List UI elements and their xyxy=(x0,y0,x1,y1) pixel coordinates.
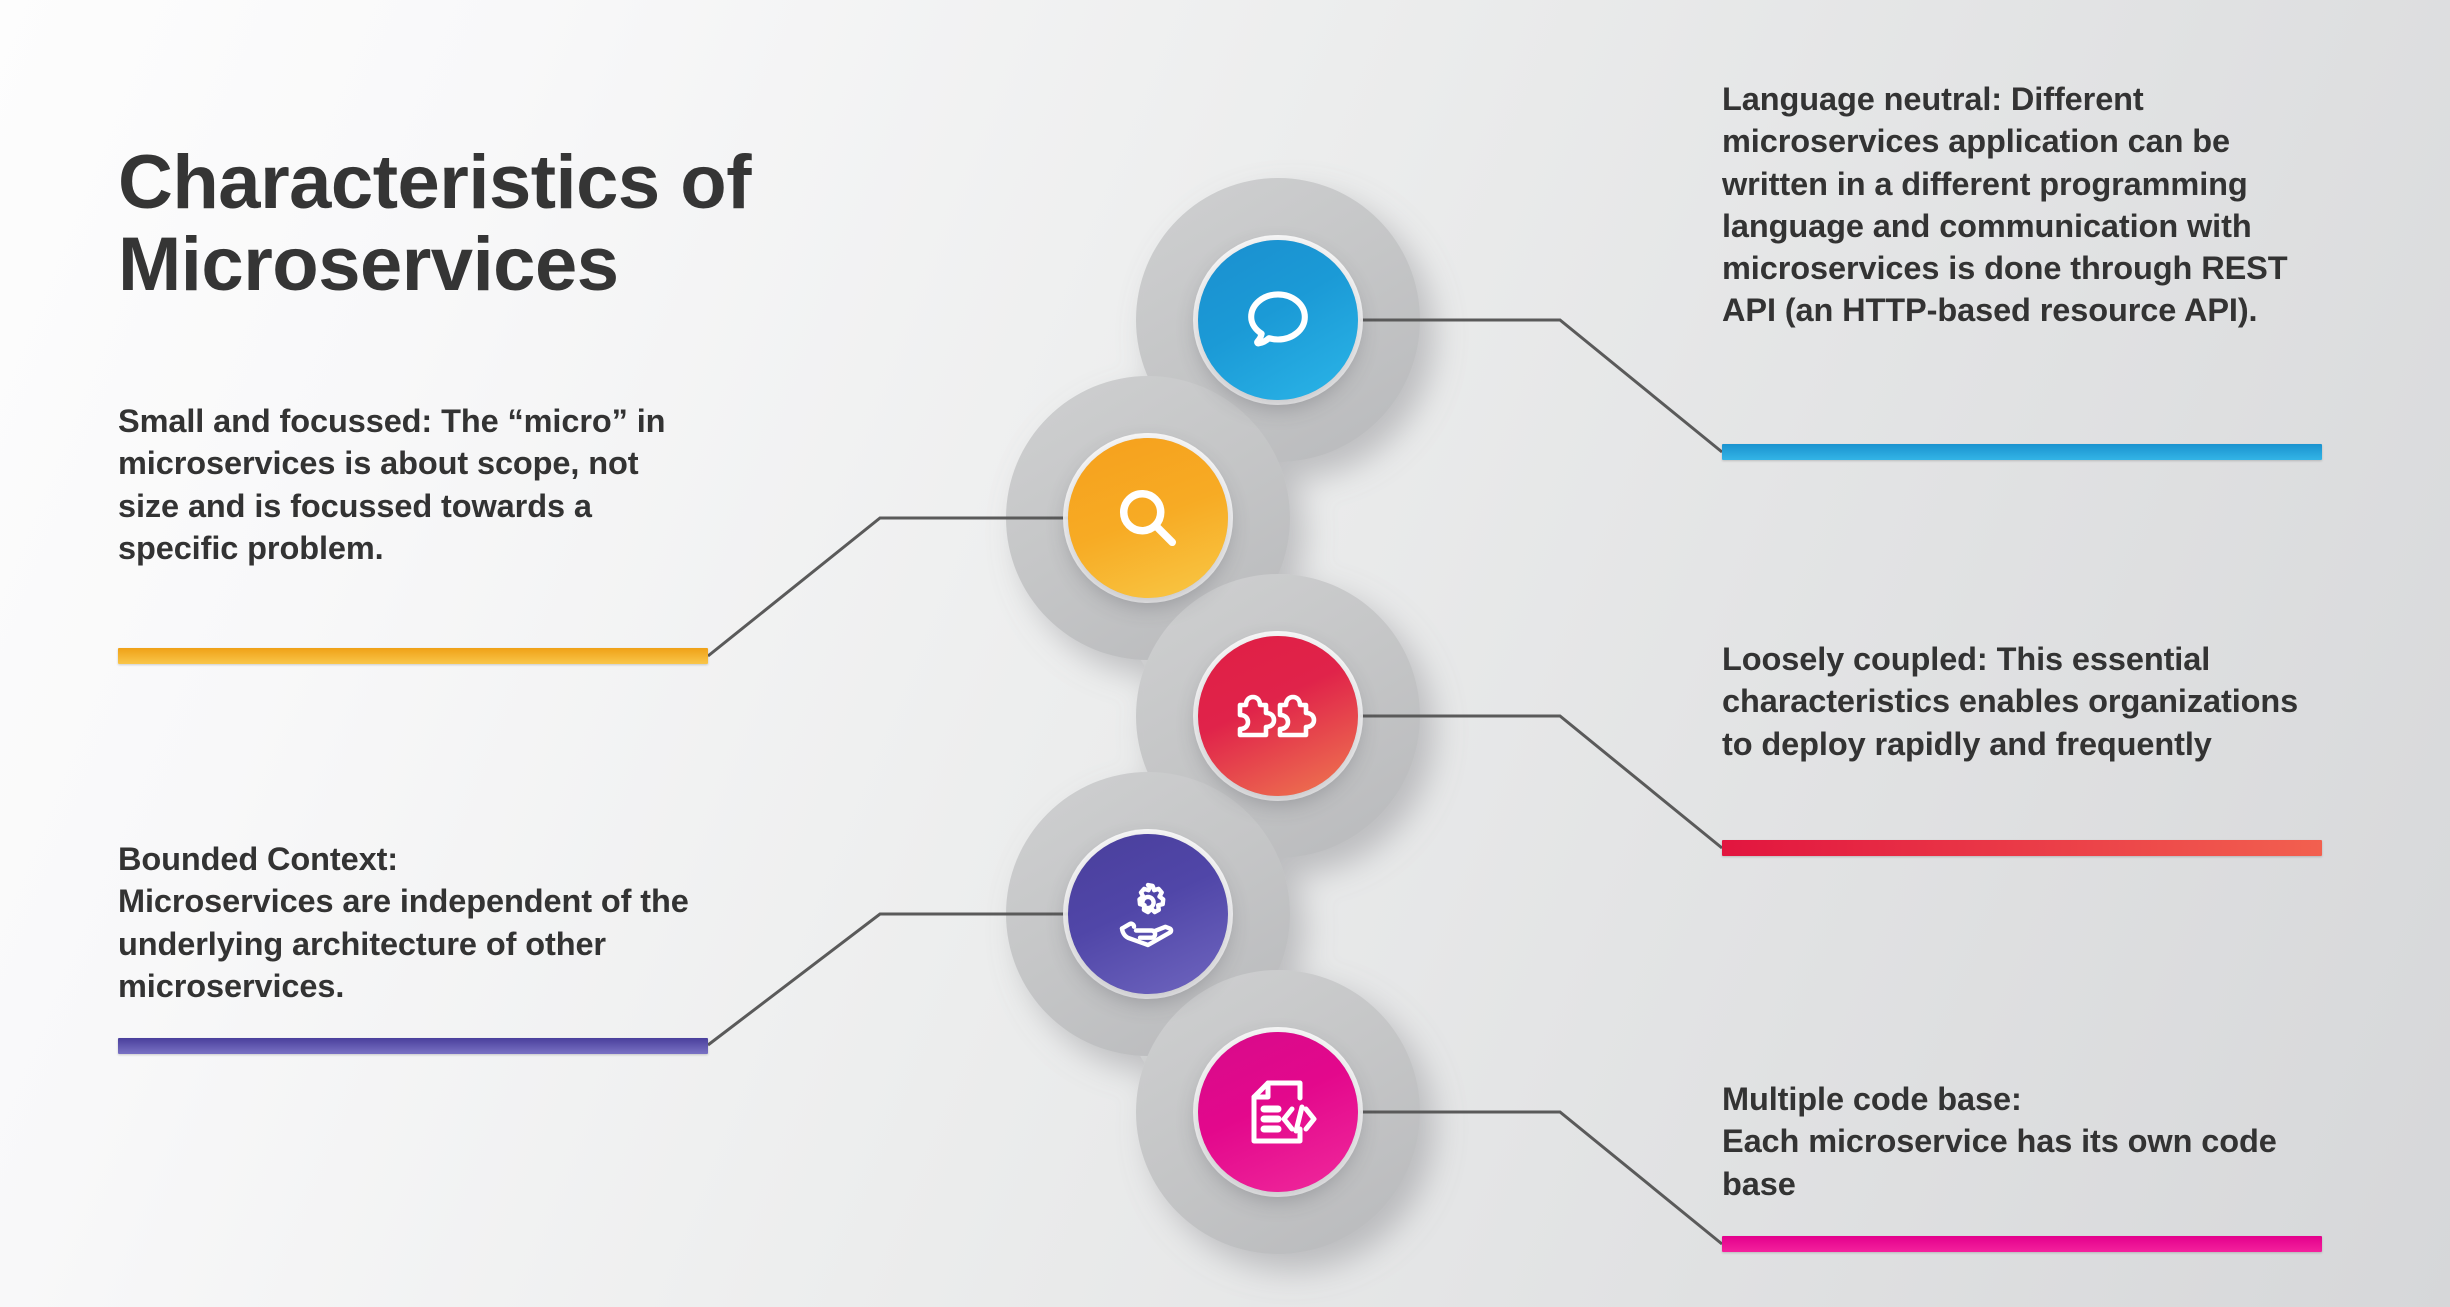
callout-accent-bar xyxy=(118,1038,708,1054)
callout-text: Language neutral: Different microservice… xyxy=(1722,78,2322,332)
speech-bubble-icon xyxy=(1239,281,1317,359)
callout-accent-bar xyxy=(118,648,708,664)
callout-text: Small and focussed: The “micro” in micro… xyxy=(118,400,708,569)
infographic-canvas: Characteristics of Microservices Small a… xyxy=(0,0,2450,1307)
callout-text: Bounded Context: Microservices are indep… xyxy=(118,838,708,1007)
page-title: Characteristics of Microservices xyxy=(118,142,1018,306)
callout-text: Loosely coupled: This essential characte… xyxy=(1722,638,2322,765)
callout-bounded-context: Bounded Context: Microservices are indep… xyxy=(118,838,708,1007)
callout-loosely-coupled: Loosely coupled: This essential characte… xyxy=(1722,638,2322,765)
callout-multiple-code-base: Multiple code base: Each microservice ha… xyxy=(1722,1078,2322,1205)
node-multiple-code-base[interactable] xyxy=(1198,1032,1358,1192)
callout-accent-bar xyxy=(1722,840,2322,856)
node-loosely-coupled[interactable] xyxy=(1198,636,1358,796)
callout-text: Multiple code base: Each microservice ha… xyxy=(1722,1078,2322,1205)
puzzle-pieces-icon xyxy=(1232,679,1324,753)
gear-in-hand-icon xyxy=(1106,873,1190,955)
node-bounded-context[interactable] xyxy=(1068,834,1228,994)
magnifier-icon xyxy=(1111,481,1185,555)
callout-language-neutral: Language neutral: Different microservice… xyxy=(1722,78,2322,332)
callout-small-and-focussed: Small and focussed: The “micro” in micro… xyxy=(118,400,708,569)
callout-accent-bar xyxy=(1722,1236,2322,1252)
callout-accent-bar xyxy=(1722,444,2322,460)
node-small-and-focussed[interactable] xyxy=(1068,438,1228,598)
node-language-neutral[interactable] xyxy=(1198,240,1358,400)
code-document-icon xyxy=(1238,1071,1318,1153)
